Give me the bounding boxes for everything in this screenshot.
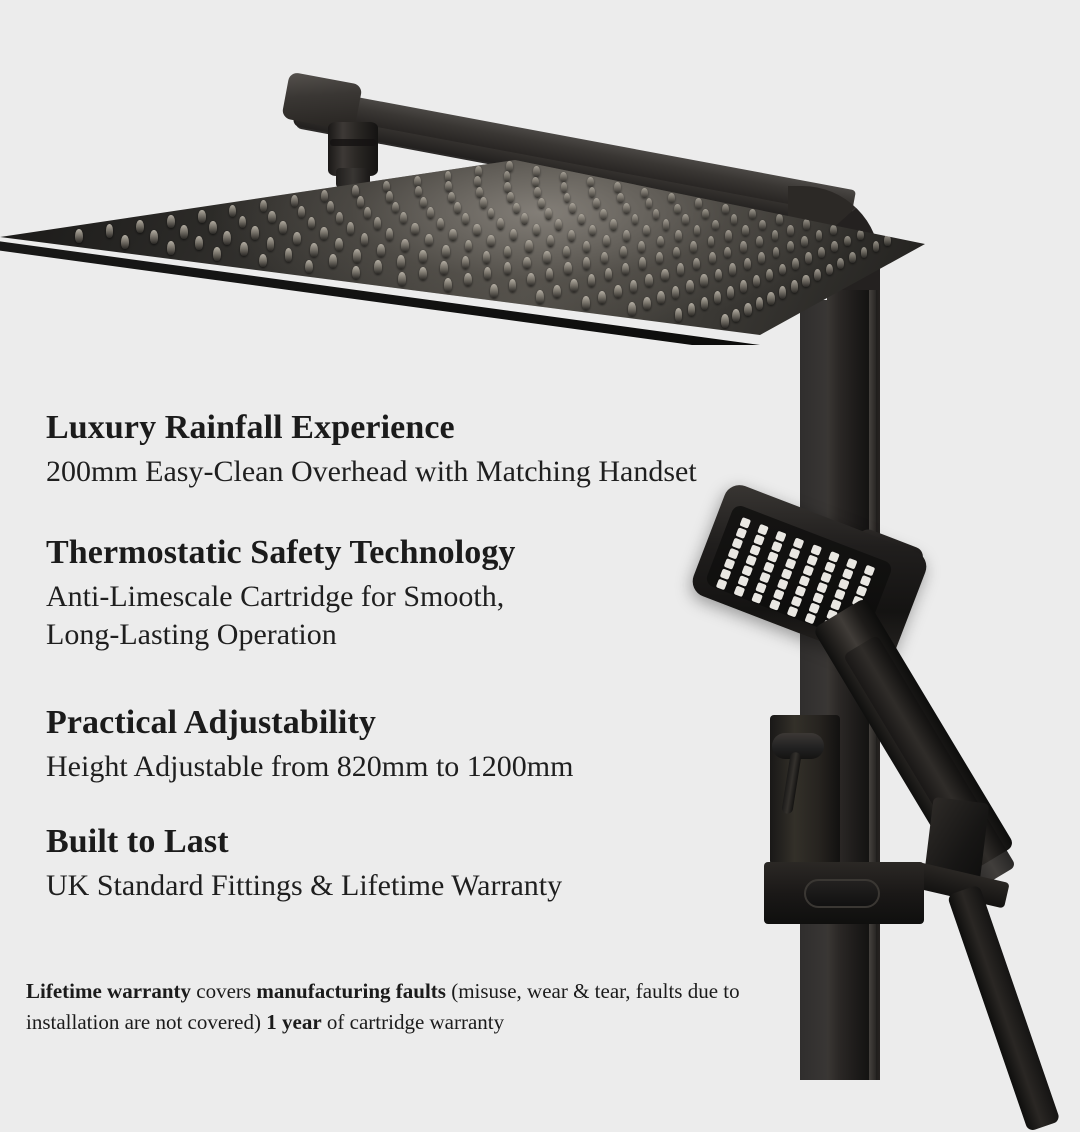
fineprint-text-1: covers <box>191 979 256 1003</box>
feature-block-2: Thermostatic Safety Technology Anti-Lime… <box>46 533 516 654</box>
feature-block-3: Practical Adjustability Height Adjustabl… <box>46 703 573 786</box>
feature-block-1: Luxury Rainfall Experience 200mm Easy-Cl… <box>46 408 697 491</box>
fineprint-bold-1: Lifetime warranty <box>26 979 191 1003</box>
fineprint-text-3: of cartridge warranty <box>322 1010 505 1034</box>
feature-copy: Luxury Rainfall Experience 200mm Easy-Cl… <box>0 0 1080 1080</box>
feature-line-4-1: UK Standard Fittings & Lifetime Warranty <box>46 867 562 905</box>
product-feature-graphic: Luxury Rainfall Experience 200mm Easy-Cl… <box>0 0 1080 1080</box>
feature-block-4: Built to Last UK Standard Fittings & Lif… <box>46 822 562 905</box>
fineprint-bold-2: manufacturing faults <box>256 979 446 1003</box>
feature-heading-4: Built to Last <box>46 822 562 862</box>
feature-line-1-1: 200mm Easy-Clean Overhead with Matching … <box>46 453 697 491</box>
feature-heading-1: Luxury Rainfall Experience <box>46 408 697 448</box>
feature-line-2-1: Anti-Limescale Cartridge for Smooth, <box>46 578 516 616</box>
feature-line-3-1: Height Adjustable from 820mm to 1200mm <box>46 748 573 786</box>
feature-heading-2: Thermostatic Safety Technology <box>46 533 516 573</box>
feature-line-2-2: Long-Lasting Operation <box>46 616 516 654</box>
fineprint-bold-3: 1 year <box>266 1010 321 1034</box>
feature-heading-3: Practical Adjustability <box>46 703 573 743</box>
warranty-fineprint: Lifetime warranty covers manufacturing f… <box>26 976 746 1038</box>
